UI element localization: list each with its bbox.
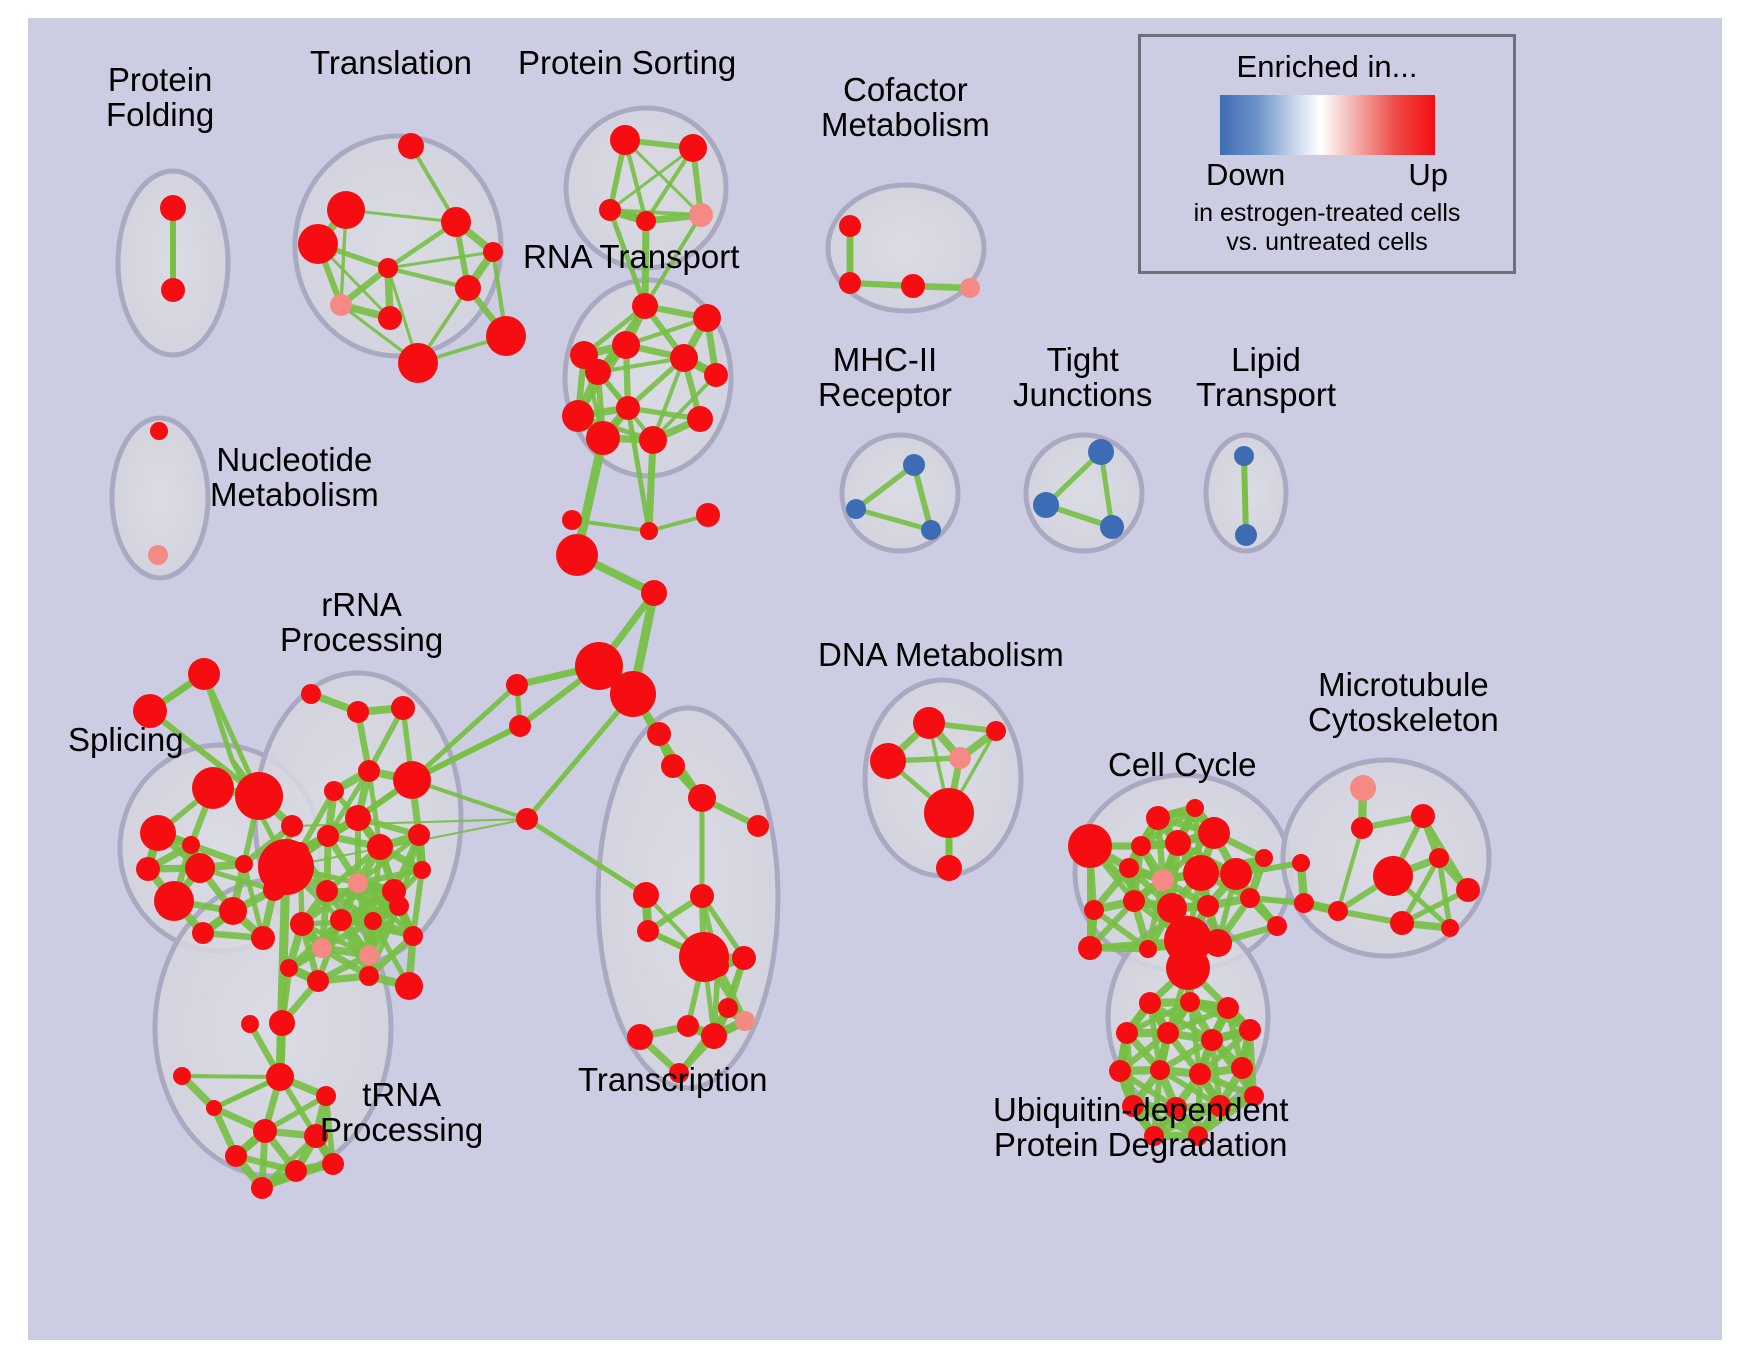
- gene-set-node[interactable]: [679, 134, 707, 162]
- cluster-ellipse-mhc-ii-receptor: [842, 435, 958, 551]
- legend-title: Enriched in...: [1141, 49, 1513, 85]
- network-canvas: Protein FoldingTranslationProtein Sortin…: [28, 18, 1722, 1340]
- gene-set-node[interactable]: [610, 125, 640, 155]
- gene-set-node[interactable]: [1373, 856, 1413, 896]
- gene-set-node[interactable]: [921, 520, 941, 540]
- gene-set-node[interactable]: [627, 1024, 653, 1050]
- gene-set-node[interactable]: [1139, 940, 1157, 958]
- gene-set-node[interactable]: [441, 207, 471, 237]
- cluster-label-microtubule-cytoskeleton: Microtubule Cytoskeleton: [1308, 668, 1499, 738]
- gene-set-node[interactable]: [1109, 1060, 1131, 1082]
- gene-set-node[interactable]: [317, 825, 339, 847]
- gene-set-node[interactable]: [1235, 524, 1257, 546]
- gene-set-node[interactable]: [506, 674, 528, 696]
- gene-set-node[interactable]: [612, 331, 640, 359]
- gene-set-node[interactable]: [562, 510, 582, 530]
- gene-set-node[interactable]: [316, 880, 338, 902]
- gene-set-node[interactable]: [718, 998, 738, 1018]
- gene-set-node[interactable]: [393, 761, 431, 799]
- gene-set-node[interactable]: [870, 743, 906, 779]
- gene-set-node[interactable]: [1078, 936, 1102, 960]
- gene-set-node[interactable]: [1411, 804, 1435, 828]
- gene-set-node[interactable]: [516, 808, 538, 830]
- gene-set-node[interactable]: [1441, 919, 1459, 937]
- gene-set-node[interactable]: [486, 316, 526, 356]
- gene-set-node[interactable]: [633, 882, 659, 908]
- legend-up-label: Up: [1408, 157, 1448, 193]
- cluster-label-dna-metabolism: DNA Metabolism: [818, 638, 1064, 673]
- gene-set-node[interactable]: [345, 805, 371, 831]
- gene-set-node[interactable]: [586, 421, 620, 455]
- gene-set-node[interactable]: [398, 133, 424, 159]
- cluster-label-lipid-transport: Lipid Transport: [1196, 343, 1336, 413]
- gene-set-node[interactable]: [391, 696, 415, 720]
- gene-set-node[interactable]: [1204, 929, 1232, 957]
- gene-set-node[interactable]: [1350, 775, 1376, 801]
- gene-set-node[interactable]: [322, 1153, 344, 1175]
- gene-set-node[interactable]: [330, 294, 352, 316]
- gene-set-node[interactable]: [188, 658, 220, 690]
- edge: [182, 1076, 280, 1077]
- gene-set-node[interactable]: [235, 855, 253, 873]
- gene-set-node[interactable]: [185, 853, 215, 883]
- cluster-label-transcription: Transcription: [578, 1063, 768, 1098]
- edge: [1244, 456, 1246, 535]
- gene-set-node[interactable]: [378, 258, 398, 278]
- gene-set-node[interactable]: [1231, 1057, 1253, 1079]
- cluster-label-trna-processing: tRNA Processing: [320, 1078, 483, 1148]
- gene-set-node[interactable]: [1152, 869, 1174, 891]
- gene-set-node[interactable]: [301, 684, 321, 704]
- cluster-label-protein-folding: Protein Folding: [106, 63, 214, 133]
- gene-set-node[interactable]: [251, 926, 275, 950]
- gene-set-node[interactable]: [924, 788, 974, 838]
- gene-set-node[interactable]: [398, 343, 438, 383]
- gene-set-node[interactable]: [735, 1011, 755, 1031]
- gene-set-node[interactable]: [1239, 1019, 1261, 1041]
- gene-set-node[interactable]: [640, 522, 658, 540]
- cluster-label-rrna-processing: rRNA Processing: [280, 588, 443, 658]
- gene-set-node[interactable]: [1157, 1022, 1179, 1044]
- gene-set-node[interactable]: [225, 1145, 247, 1167]
- gene-set-node[interactable]: [280, 959, 298, 977]
- gene-set-node[interactable]: [160, 195, 186, 221]
- gene-set-node[interactable]: [235, 772, 283, 820]
- cluster-label-cell-cycle: Cell Cycle: [1108, 748, 1257, 783]
- gene-set-node[interactable]: [637, 920, 659, 942]
- gene-set-node[interactable]: [839, 272, 861, 294]
- gene-set-node[interactable]: [290, 912, 314, 936]
- gene-set-node[interactable]: [1328, 901, 1348, 921]
- gene-set-node[interactable]: [258, 839, 314, 895]
- gene-set-node[interactable]: [693, 304, 721, 332]
- gene-set-node[interactable]: [687, 406, 713, 432]
- gene-set-node[interactable]: [632, 293, 658, 319]
- gene-set-node[interactable]: [192, 767, 234, 809]
- gene-set-node[interactable]: [1165, 830, 1191, 856]
- gene-set-node[interactable]: [358, 760, 380, 782]
- gene-set-node[interactable]: [641, 580, 667, 606]
- gene-set-node[interactable]: [677, 1015, 699, 1037]
- legend-sub-line2: vs. untreated cells: [1141, 228, 1513, 257]
- gene-set-node[interactable]: [562, 400, 594, 432]
- gene-set-node[interactable]: [839, 215, 861, 237]
- gene-set-node[interactable]: [312, 938, 332, 958]
- cluster-label-translation: Translation: [310, 46, 472, 81]
- gene-set-node[interactable]: [330, 909, 352, 931]
- gene-set-node[interactable]: [1150, 1060, 1170, 1080]
- gene-set-node[interactable]: [701, 1023, 727, 1049]
- figure-root: Protein FoldingTranslationProtein Sortin…: [0, 0, 1750, 1360]
- gene-set-node[interactable]: [1294, 893, 1314, 913]
- gene-set-node[interactable]: [707, 955, 729, 977]
- cluster-label-nucleotide-metabolism: Nucleotide Metabolism: [210, 443, 379, 513]
- gene-set-node[interactable]: [704, 363, 728, 387]
- gene-set-node[interactable]: [285, 1160, 307, 1182]
- gene-set-node[interactable]: [483, 242, 503, 262]
- gene-set-node[interactable]: [154, 881, 194, 921]
- gene-set-node[interactable]: [395, 972, 423, 1000]
- gene-set-node[interactable]: [359, 966, 379, 986]
- gene-set-node[interactable]: [901, 274, 925, 298]
- gene-set-node[interactable]: [307, 970, 329, 992]
- gene-set-node[interactable]: [1139, 992, 1161, 1014]
- cluster-label-rna-transport: RNA Transport: [523, 240, 739, 275]
- gene-set-node[interactable]: [936, 855, 962, 881]
- gene-set-node[interactable]: [1240, 888, 1260, 908]
- gene-set-node[interactable]: [251, 1177, 273, 1199]
- gene-set-node[interactable]: [1033, 492, 1059, 518]
- gene-set-node[interactable]: [903, 454, 925, 476]
- color-gradient-bar: [1220, 95, 1435, 155]
- gene-set-node[interactable]: [389, 896, 409, 916]
- gene-set-node[interactable]: [192, 922, 214, 944]
- gene-set-node[interactable]: [173, 1067, 191, 1085]
- gene-set-node[interactable]: [364, 912, 382, 930]
- gene-set-node[interactable]: [636, 211, 656, 231]
- gene-set-node[interactable]: [403, 926, 423, 946]
- gene-set-node[interactable]: [367, 834, 393, 860]
- cluster-label-mhc-ii-receptor: MHC-II Receptor: [818, 343, 952, 413]
- gene-set-node[interactable]: [1429, 848, 1449, 868]
- gene-set-node[interactable]: [1189, 1063, 1211, 1085]
- gene-set-node[interactable]: [1088, 439, 1114, 465]
- gene-set-node[interactable]: [986, 721, 1006, 741]
- gene-set-node[interactable]: [219, 897, 247, 925]
- gene-set-node[interactable]: [206, 1100, 222, 1116]
- gene-set-node[interactable]: [599, 199, 621, 221]
- gene-set-node[interactable]: [161, 278, 185, 302]
- gene-set-node[interactable]: [1166, 946, 1210, 990]
- cluster-label-splicing: Splicing: [68, 723, 184, 758]
- gene-set-node[interactable]: [1180, 992, 1200, 1012]
- gene-set-node[interactable]: [1234, 446, 1254, 466]
- gene-set-node[interactable]: [327, 191, 365, 229]
- cluster-label-tight-junctions: Tight Junctions: [1013, 343, 1152, 413]
- gene-set-node[interactable]: [1390, 911, 1414, 935]
- gene-set-node[interactable]: [1267, 916, 1287, 936]
- gene-set-node[interactable]: [140, 815, 176, 851]
- gene-set-node[interactable]: [148, 545, 168, 565]
- gene-set-node[interactable]: [1116, 1022, 1138, 1044]
- gene-set-node[interactable]: [639, 426, 667, 454]
- gene-set-node[interactable]: [1201, 1029, 1223, 1051]
- gene-set-node[interactable]: [136, 857, 160, 881]
- gene-set-node[interactable]: [298, 224, 338, 264]
- gene-set-node[interactable]: [413, 861, 431, 879]
- cluster-label-cofactor-metabolism: Cofactor Metabolism: [821, 73, 990, 143]
- gene-set-node[interactable]: [348, 873, 368, 893]
- gene-set-node[interactable]: [688, 784, 716, 812]
- gene-set-node[interactable]: [378, 306, 402, 330]
- gene-set-node[interactable]: [1186, 799, 1204, 817]
- gene-set-node[interactable]: [1183, 855, 1219, 891]
- gene-set-node[interactable]: [269, 1010, 295, 1036]
- gene-set-node[interactable]: [1100, 515, 1124, 539]
- gene-set-node[interactable]: [241, 1015, 259, 1033]
- gene-set-node[interactable]: [616, 396, 640, 420]
- gene-set-node[interactable]: [266, 1063, 294, 1091]
- legend-down-label: Down: [1206, 157, 1285, 193]
- gene-set-node[interactable]: [1217, 997, 1239, 1019]
- gene-set-node[interactable]: [1084, 900, 1104, 920]
- gene-set-node[interactable]: [1197, 895, 1219, 917]
- legend-sub-line1: in estrogen-treated cells: [1141, 199, 1513, 228]
- gene-set-node[interactable]: [182, 836, 200, 854]
- gene-set-node[interactable]: [1255, 849, 1273, 867]
- gene-set-node[interactable]: [1131, 836, 1151, 856]
- gene-set-node[interactable]: [509, 715, 531, 737]
- gene-set-node[interactable]: [670, 344, 698, 372]
- gene-set-node[interactable]: [1068, 824, 1112, 868]
- gene-set-node[interactable]: [408, 824, 430, 846]
- gene-set-node[interactable]: [281, 815, 303, 837]
- gene-set-node[interactable]: [747, 815, 769, 837]
- gene-set-node[interactable]: [696, 503, 720, 527]
- gene-set-node[interactable]: [610, 671, 656, 717]
- gene-set-node[interactable]: [960, 278, 980, 298]
- cluster-label-ubiquitin-protein-degradation: Ubiquitin-dependent Protein Degradation: [993, 1093, 1288, 1163]
- gene-set-node[interactable]: [690, 884, 714, 908]
- gene-set-node[interactable]: [324, 781, 344, 801]
- gene-set-node[interactable]: [661, 754, 685, 778]
- gene-set-node[interactable]: [455, 275, 481, 301]
- gene-set-node[interactable]: [689, 203, 713, 227]
- gene-set-node[interactable]: [150, 422, 168, 440]
- gene-set-node[interactable]: [1198, 817, 1230, 849]
- gene-set-node[interactable]: [585, 359, 611, 385]
- gene-set-node[interactable]: [1123, 890, 1145, 912]
- gene-set-node[interactable]: [1292, 854, 1310, 872]
- gene-set-node[interactable]: [359, 945, 379, 965]
- gene-set-node[interactable]: [1220, 858, 1252, 890]
- gene-set-node[interactable]: [253, 1119, 277, 1143]
- gene-set-node[interactable]: [732, 946, 756, 970]
- gene-set-node[interactable]: [1119, 858, 1139, 878]
- legend-panel: Enriched in... Down Up in estrogen-treat…: [1138, 34, 1516, 274]
- gene-set-node[interactable]: [1146, 806, 1170, 830]
- gene-set-node[interactable]: [347, 701, 369, 723]
- gene-set-node[interactable]: [1456, 878, 1480, 902]
- gene-set-node[interactable]: [556, 534, 598, 576]
- gene-set-node[interactable]: [913, 707, 945, 739]
- cluster-label-protein-sorting: Protein Sorting: [518, 46, 736, 81]
- gene-set-node[interactable]: [949, 747, 971, 769]
- gene-set-node[interactable]: [1351, 817, 1373, 839]
- gene-set-node[interactable]: [846, 499, 866, 519]
- gene-set-node[interactable]: [647, 722, 671, 746]
